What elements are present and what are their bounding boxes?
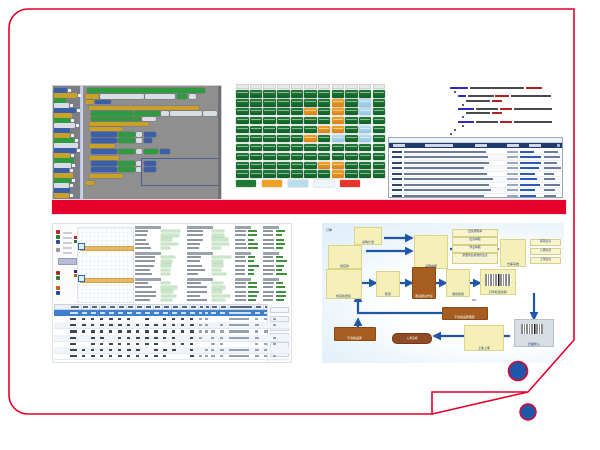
status-card[interactable] — [345, 99, 358, 107]
status-card[interactable] — [359, 144, 372, 152]
form-label — [135, 247, 151, 249]
form-value[interactable] — [276, 239, 284, 241]
code-block[interactable] — [144, 132, 156, 137]
form-group-title — [187, 252, 213, 255]
form-value[interactable] — [276, 295, 286, 297]
form-value[interactable] — [248, 291, 259, 293]
status-card[interactable] — [332, 162, 345, 170]
status-card[interactable] — [318, 153, 331, 161]
status-card[interactable] — [373, 162, 386, 170]
code-block[interactable] — [118, 167, 135, 172]
code-text-area[interactable] — [388, 84, 563, 137]
log-level — [392, 156, 402, 158]
blockly-editor-panel[interactable] — [52, 85, 222, 200]
form-value[interactable] — [212, 264, 223, 267]
code-block[interactable] — [100, 94, 144, 99]
status-column[interactable] — [250, 84, 263, 179]
code-block[interactable] — [118, 132, 135, 137]
flow-node-po-entry[interactable]: 采购计划 — [354, 227, 382, 245]
status-card[interactable] — [332, 126, 345, 134]
toolbar-indicator[interactable] — [56, 291, 60, 295]
status-card[interactable] — [291, 126, 304, 134]
form-value[interactable] — [212, 295, 229, 298]
code-block[interactable] — [160, 149, 170, 154]
form-value[interactable] — [161, 243, 178, 246]
form-value[interactable] — [161, 256, 174, 259]
code-block[interactable] — [118, 149, 135, 154]
status-card[interactable] — [236, 90, 249, 98]
status-card[interactable] — [263, 153, 276, 161]
form-value[interactable] — [212, 299, 225, 302]
status-column[interactable] — [359, 84, 372, 179]
status-card[interactable] — [277, 144, 290, 152]
status-card[interactable] — [263, 162, 276, 170]
form-value[interactable] — [161, 247, 170, 250]
flow-node-label-print[interactable]: 打印标签条码 — [480, 269, 516, 295]
status-column[interactable] — [263, 84, 276, 179]
status-card[interactable] — [345, 135, 358, 143]
code-block[interactable] — [144, 149, 158, 154]
status-column-header — [359, 84, 372, 89]
code-block[interactable] — [134, 111, 160, 116]
form-value[interactable] — [248, 230, 257, 232]
form-value[interactable] — [248, 234, 257, 236]
form-value[interactable] — [212, 273, 226, 276]
status-card[interactable] — [373, 153, 386, 161]
flow-node-reject-area[interactable]: 不合格品整理区 — [442, 307, 488, 320]
code-block[interactable] — [87, 88, 205, 93]
status-card[interactable] — [304, 90, 317, 98]
flow-node-supplier[interactable]: 供应商 — [328, 245, 362, 269]
status-card[interactable] — [359, 108, 372, 116]
console-header-cell[interactable] — [475, 144, 487, 146]
table-cell — [109, 343, 113, 345]
flow-node-putaway[interactable]: 上架上库 — [464, 325, 504, 351]
code-block[interactable] — [118, 161, 135, 166]
flow-node-inspect[interactable]: 收货检验 — [446, 269, 470, 297]
status-card[interactable] — [250, 170, 263, 178]
toolbar-indicator[interactable] — [56, 271, 60, 275]
status-card[interactable] — [318, 162, 331, 170]
code-block[interactable] — [144, 138, 152, 143]
console-header-cell[interactable] — [393, 144, 405, 146]
status-card[interactable] — [373, 144, 386, 152]
form-value[interactable] — [161, 299, 171, 302]
status-card[interactable] — [318, 135, 331, 143]
code-block[interactable] — [142, 117, 156, 121]
status-card[interactable] — [250, 99, 263, 107]
code-block[interactable] — [89, 144, 115, 148]
status-card[interactable] — [277, 108, 290, 116]
table-cell — [273, 343, 276, 345]
form-value[interactable] — [161, 234, 179, 237]
status-card[interactable] — [236, 117, 249, 125]
status-card[interactable] — [263, 135, 276, 143]
status-card[interactable] — [332, 170, 345, 178]
form-value[interactable] — [248, 286, 257, 288]
status-card[interactable] — [304, 135, 317, 143]
status-card[interactable] — [304, 108, 317, 116]
status-card[interactable] — [345, 117, 358, 125]
code-block[interactable] — [95, 100, 111, 104]
status-card[interactable] — [373, 99, 386, 107]
status-card[interactable] — [359, 135, 372, 143]
status-card[interactable] — [291, 135, 304, 143]
toolbar-indicator[interactable] — [56, 248, 60, 252]
status-card[interactable] — [332, 90, 345, 98]
code-block[interactable] — [118, 138, 135, 143]
status-card[interactable] — [291, 108, 304, 116]
status-card[interactable] — [318, 126, 331, 134]
status-card[interactable] — [318, 117, 331, 125]
code-block[interactable] — [145, 94, 175, 99]
status-card[interactable] — [359, 126, 372, 134]
form-value[interactable] — [161, 286, 176, 289]
status-card[interactable] — [250, 162, 263, 170]
status-card[interactable] — [263, 90, 276, 98]
code-block[interactable] — [89, 156, 119, 160]
form-value[interactable] — [276, 265, 284, 267]
status-card[interactable] — [359, 90, 372, 98]
console-header-cell[interactable] — [529, 144, 541, 146]
selected-cell-text — [163, 312, 168, 314]
status-card[interactable] — [277, 170, 290, 178]
palette-block[interactable] — [54, 193, 69, 198]
status-card[interactable] — [263, 108, 276, 116]
toolbar-indicator[interactable] — [56, 240, 60, 244]
table-action-button[interactable] — [270, 307, 289, 313]
data-table[interactable] — [54, 304, 290, 361]
table-cell — [136, 324, 140, 326]
status-card[interactable] — [277, 135, 290, 143]
form-value[interactable] — [248, 247, 258, 249]
code-block[interactable] — [161, 111, 169, 116]
log-source — [404, 189, 491, 191]
flow-node-delivery[interactable]: 供应商送货 — [326, 269, 362, 299]
gantt-grid[interactable] — [77, 227, 134, 303]
form-value[interactable] — [161, 290, 173, 293]
gantt-milestone[interactable] — [78, 275, 85, 282]
status-card[interactable] — [332, 117, 345, 125]
form-value[interactable] — [161, 295, 176, 298]
form-value[interactable] — [161, 238, 172, 241]
status-card[interactable] — [304, 126, 317, 134]
console-header-cell[interactable] — [425, 144, 453, 146]
code-block[interactable] — [85, 181, 95, 185]
status-column[interactable] — [291, 84, 304, 179]
form-value[interactable] — [248, 239, 254, 241]
code-block[interactable] — [89, 122, 149, 126]
status-card[interactable] — [291, 99, 304, 107]
status-card[interactable] — [373, 126, 386, 134]
gantt-row-label[interactable] — [58, 258, 77, 265]
status-card[interactable] — [277, 90, 290, 98]
flow-card-wms-lab-3[interactable]: 上架信息 — [530, 257, 561, 264]
status-card[interactable] — [291, 170, 304, 178]
status-card[interactable] — [359, 162, 372, 170]
toolbar-indicator[interactable] — [56, 230, 60, 234]
code-block[interactable] — [91, 149, 117, 154]
status-card[interactable] — [345, 90, 358, 98]
status-card[interactable] — [345, 144, 358, 152]
status-card[interactable] — [373, 117, 386, 125]
gantt-bar[interactable] — [80, 278, 134, 283]
status-card[interactable] — [236, 153, 249, 161]
status-card[interactable] — [277, 99, 290, 107]
gantt-bar[interactable] — [80, 246, 134, 251]
form-value[interactable] — [161, 264, 171, 267]
blockly-workspace[interactable] — [81, 86, 221, 199]
status-column[interactable] — [373, 84, 386, 179]
table-cell — [136, 343, 140, 345]
status-card[interactable] — [318, 99, 331, 107]
status-column[interactable] — [304, 84, 317, 179]
code-block[interactable] — [177, 94, 187, 99]
code-block[interactable] — [91, 167, 117, 172]
form-value[interactable] — [248, 243, 258, 245]
code-block[interactable] — [136, 149, 142, 154]
table-header-row[interactable] — [54, 304, 290, 310]
gantt-milestone[interactable] — [78, 243, 85, 250]
toolbar-indicator[interactable] — [56, 276, 60, 280]
flow-card-card-3[interactable]: 作业单据 — [452, 245, 498, 253]
status-card[interactable] — [250, 108, 263, 116]
form-value[interactable] — [212, 260, 223, 263]
form-group-title — [235, 226, 251, 229]
form-value[interactable] — [212, 243, 228, 246]
properties-form[interactable] — [135, 226, 289, 302]
code-block[interactable] — [89, 127, 123, 131]
form-value[interactable] — [248, 273, 254, 275]
spreadsheet-panel[interactable] — [52, 223, 292, 363]
status-card[interactable] — [277, 117, 290, 125]
status-card[interactable] — [359, 99, 372, 107]
flow-card-wms-lab-2[interactable]: 入库信息 — [530, 248, 561, 255]
status-card[interactable] — [236, 170, 249, 178]
console-log-row[interactable] — [389, 193, 562, 199]
status-card[interactable] — [291, 162, 304, 170]
status-card[interactable] — [359, 170, 372, 178]
status-card[interactable] — [236, 99, 249, 107]
status-card[interactable] — [250, 153, 263, 161]
form-value[interactable] — [276, 291, 286, 293]
table-cell — [136, 337, 141, 339]
toolbar-indicator[interactable] — [56, 235, 60, 239]
status-card[interactable] — [291, 144, 304, 152]
blockly-scrollbar[interactable] — [218, 86, 221, 199]
table-cell — [172, 318, 176, 320]
flow-node-inbound-done[interactable]: 入库完成 — [392, 333, 432, 344]
status-card[interactable] — [250, 126, 263, 134]
form-value[interactable] — [161, 273, 169, 276]
status-card[interactable] — [250, 117, 263, 125]
code-block[interactable] — [89, 174, 123, 178]
status-card[interactable] — [236, 144, 249, 152]
form-value[interactable] — [276, 243, 285, 245]
flow-card-card-2[interactable]: 出货单据 — [452, 237, 498, 245]
form-value[interactable] — [276, 256, 283, 258]
toolbar-indicator[interactable] — [56, 286, 60, 290]
console-header-cell[interactable] — [507, 144, 519, 146]
status-card[interactable] — [304, 117, 317, 125]
status-card[interactable] — [263, 99, 276, 107]
code-block[interactable] — [91, 117, 141, 121]
form-value[interactable] — [248, 265, 259, 267]
status-card[interactable] — [318, 144, 331, 152]
status-card[interactable] — [318, 90, 331, 98]
code-block[interactable] — [203, 111, 217, 116]
flow-card-card-4[interactable]: 质量作业标准作业点 — [452, 253, 498, 264]
status-column-header — [304, 84, 317, 89]
status-card[interactable] — [373, 170, 386, 178]
status-card[interactable] — [250, 90, 263, 98]
flow-card-card-1[interactable]: 出货通知单 — [452, 229, 498, 237]
status-card[interactable] — [277, 162, 290, 170]
status-card[interactable] — [236, 135, 249, 143]
status-card[interactable] — [359, 117, 372, 125]
code-block[interactable] — [170, 111, 202, 116]
form-value[interactable] — [212, 234, 224, 237]
flow-label-ng: NG — [472, 299, 477, 302]
form-value[interactable] — [212, 238, 228, 241]
form-value[interactable] — [161, 260, 172, 263]
form-value[interactable] — [161, 269, 169, 272]
console-column-header[interactable] — [389, 143, 562, 148]
form-value[interactable] — [248, 299, 256, 301]
flow-node-wms[interactable]: 仓库系统 — [500, 239, 526, 267]
status-column[interactable] — [318, 84, 331, 179]
debug-console[interactable] — [388, 137, 563, 198]
form-value[interactable] — [212, 286, 225, 289]
form-value[interactable] — [248, 260, 254, 262]
form-value[interactable] — [161, 230, 179, 233]
toolbar-label — [63, 242, 72, 244]
code-block[interactable] — [136, 132, 142, 137]
form-value[interactable] — [248, 282, 257, 284]
form-value[interactable] — [161, 282, 170, 285]
form-value[interactable] — [276, 286, 285, 288]
console-header-sort-icon[interactable] — [557, 144, 560, 147]
status-card[interactable] — [345, 126, 358, 134]
status-card[interactable] — [277, 153, 290, 161]
form-value[interactable] — [212, 230, 224, 233]
code-block[interactable] — [89, 106, 199, 110]
status-column[interactable] — [236, 84, 249, 179]
status-card[interactable] — [304, 170, 317, 178]
status-card[interactable] — [318, 170, 331, 178]
code-block[interactable] — [136, 138, 142, 143]
status-card[interactable] — [291, 90, 304, 98]
table-cell — [255, 343, 259, 345]
status-card[interactable] — [236, 126, 249, 134]
code-block[interactable] — [91, 138, 117, 143]
form-value[interactable] — [276, 234, 282, 236]
status-card[interactable] — [250, 135, 263, 143]
status-card[interactable] — [263, 117, 276, 125]
flow-card-wms-lab-1[interactable]: 库存信息 — [530, 239, 561, 246]
form-value[interactable] — [276, 299, 284, 301]
code-editor-panel[interactable] — [388, 84, 563, 198]
form-value[interactable] — [248, 295, 257, 297]
status-card[interactable] — [250, 144, 263, 152]
status-card[interactable] — [332, 144, 345, 152]
table-selected-row[interactable] — [54, 310, 290, 316]
status-card[interactable] — [304, 144, 317, 152]
status-card[interactable] — [263, 144, 276, 152]
status-column[interactable] — [332, 84, 345, 179]
code-block[interactable] — [85, 94, 99, 99]
form-value[interactable] — [276, 282, 283, 284]
table-cell — [205, 324, 208, 326]
status-card[interactable] — [277, 126, 290, 134]
code-block[interactable] — [91, 132, 117, 137]
status-card[interactable] — [373, 90, 386, 98]
table-cell — [154, 337, 158, 339]
status-card[interactable] — [236, 108, 249, 116]
form-value[interactable] — [276, 273, 287, 275]
status-card[interactable] — [332, 108, 345, 116]
form-value[interactable] — [212, 290, 222, 293]
form-value[interactable] — [212, 269, 221, 272]
status-card[interactable] — [332, 153, 345, 161]
form-value[interactable] — [212, 282, 223, 285]
status-card[interactable] — [318, 108, 331, 116]
form-value[interactable] — [212, 256, 230, 259]
code-block[interactable] — [91, 161, 117, 166]
status-card[interactable] — [304, 153, 317, 161]
status-card[interactable] — [345, 170, 358, 178]
table-row[interactable] — [54, 353, 290, 360]
status-card[interactable] — [345, 153, 358, 161]
status-card[interactable] — [345, 108, 358, 116]
form-value[interactable] — [212, 247, 221, 250]
status-column-header — [263, 84, 276, 89]
form-value[interactable] — [276, 230, 285, 232]
flow-node-receive[interactable]: 收货报关作业 — [412, 267, 436, 299]
form-value[interactable] — [276, 260, 287, 262]
flow-node-unload[interactable]: 卸货 — [376, 271, 400, 297]
status-card[interactable] — [345, 162, 358, 170]
status-card[interactable] — [373, 135, 386, 143]
table-cell — [190, 324, 194, 326]
form-value[interactable] — [276, 247, 283, 249]
code-block[interactable] — [85, 100, 94, 104]
status-card[interactable] — [263, 126, 276, 134]
status-column[interactable] — [277, 84, 290, 179]
status-card[interactable] — [263, 170, 276, 178]
status-card[interactable] — [291, 117, 304, 125]
form-value[interactable] — [248, 269, 254, 271]
form-value[interactable] — [248, 256, 255, 258]
code-block[interactable] — [189, 94, 196, 99]
flowchart-panel[interactable]: 订单采购计划供应商采购单据出货通知单出货单据作业单据质量作业标准作业点仓库系统库… — [322, 223, 564, 363]
status-card[interactable] — [332, 99, 345, 107]
status-card[interactable] — [236, 162, 249, 170]
flow-node-doc-prep[interactable]: 采购单据 — [414, 235, 448, 269]
status-card[interactable] — [304, 99, 317, 107]
status-card[interactable] — [332, 135, 345, 143]
flow-node-scan[interactable]: 扫描录入 — [514, 319, 554, 347]
status-card[interactable] — [291, 153, 304, 161]
code-block[interactable] — [91, 111, 133, 116]
flow-node-reject-store[interactable]: 不合格品库 — [334, 327, 376, 341]
status-column[interactable] — [345, 84, 358, 179]
status-card[interactable] — [304, 162, 317, 170]
status-card[interactable] — [359, 153, 372, 161]
form-value[interactable] — [276, 269, 282, 271]
blockly-palette[interactable] — [53, 86, 81, 199]
status-card[interactable] — [373, 108, 386, 116]
